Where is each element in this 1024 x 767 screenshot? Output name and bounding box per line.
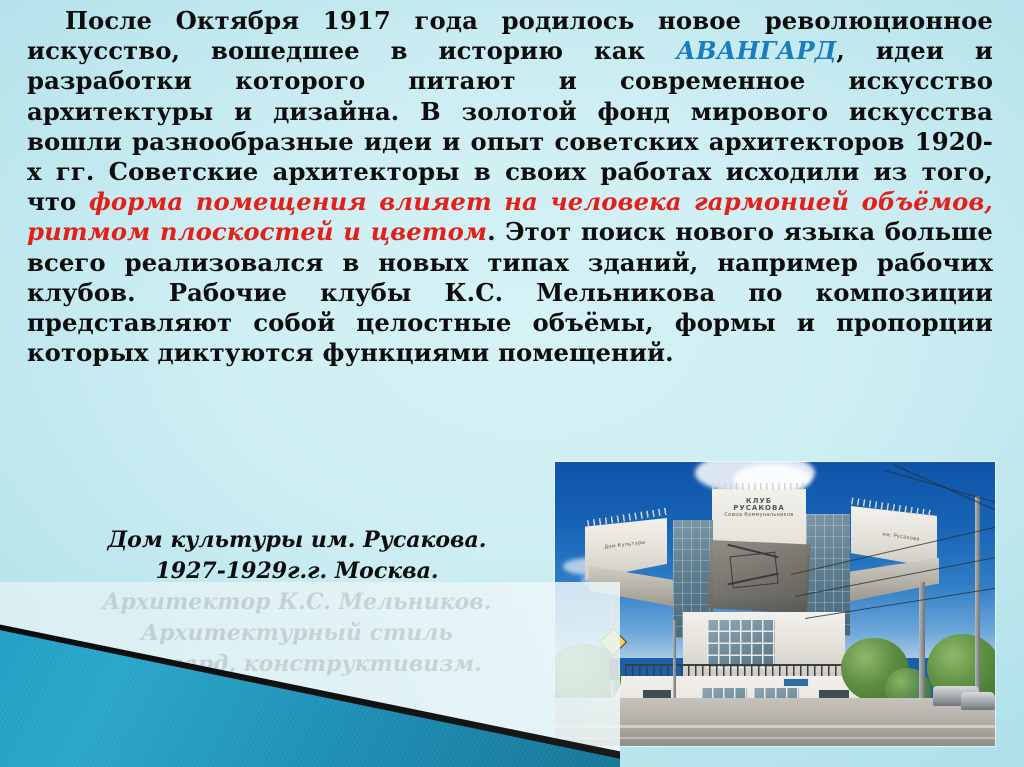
- caption-line-3: Архитектор К.С. Мельников.: [62, 587, 532, 618]
- photo-caption: Дом культуры им. Русакова. 1927-1929г.г.…: [62, 525, 532, 680]
- facade-sign-name: РУСАКОВА: [733, 504, 785, 512]
- parked-car-2: [961, 692, 995, 710]
- caption-line-4: Архитектурный стиль: [62, 618, 532, 649]
- facade-sign-sub: Союза Коммунальников: [724, 512, 793, 518]
- curb-line: [555, 725, 995, 728]
- building-photograph: КЛУБ РУСАКОВА Союза Коммунальников Дом К…: [555, 462, 995, 746]
- slide-body-paragraph: После Октября 1917 года родилось новое р…: [27, 6, 993, 368]
- utility-pole: [975, 496, 980, 696]
- street-name-plate: [783, 678, 809, 687]
- caption-line-1: Дом культуры им. Русакова.: [62, 525, 532, 556]
- mid-window-grid: [707, 620, 775, 668]
- traffic-light: [609, 658, 618, 680]
- facade-sign: КЛУБ РУСАКОВА Союза Коммунальников: [721, 498, 797, 518]
- caption-line-2: 1927-1929г.г. Москва.: [62, 556, 532, 587]
- tower-roof-teeth: [712, 483, 806, 490]
- road-marking: [555, 737, 995, 739]
- presentation-slide: После Октября 1917 года родилось новое р…: [0, 0, 1024, 767]
- caption-line-5: авангард, конструктивизм.: [62, 649, 532, 680]
- mid-level-window: [707, 620, 775, 668]
- keyword-avangard: АВАНГАРД: [676, 36, 836, 65]
